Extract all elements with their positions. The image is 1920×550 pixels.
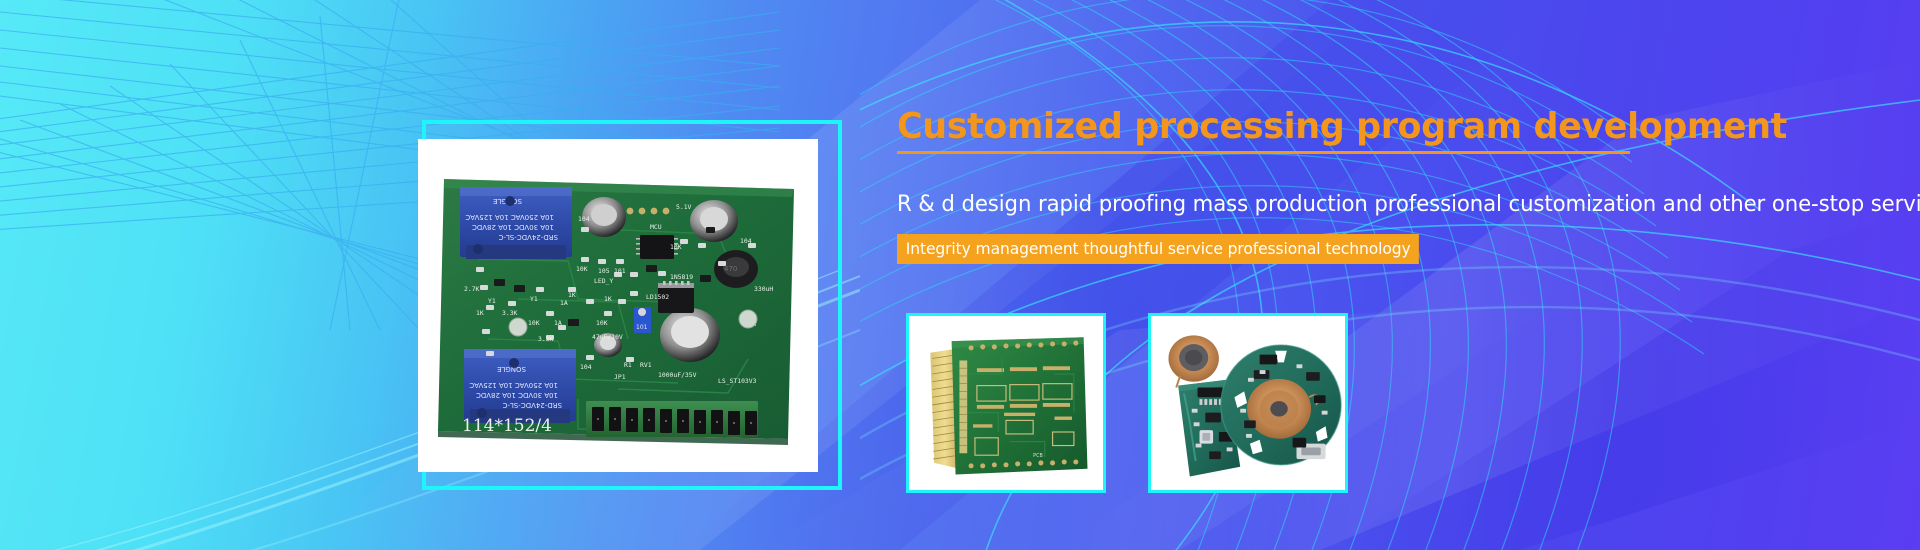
svg-text:10K: 10K: [670, 243, 682, 251]
svg-text:Y1: Y1: [530, 295, 538, 303]
svg-text:R1: R1: [624, 361, 632, 369]
svg-text:104: 104: [580, 363, 592, 371]
svg-text:1K: 1K: [568, 291, 576, 299]
svg-text:10A 250VAC 10A 125VAC: 10A 250VAC 10A 125VAC: [465, 213, 554, 221]
svg-text:10K: 10K: [596, 319, 608, 327]
svg-text:LED_Y: LED_Y: [594, 277, 613, 285]
banner-copy: Customized processing program developmen…: [897, 108, 1920, 264]
svg-text:1A: 1A: [554, 319, 562, 327]
svg-text:47uF/10V: 47uF/10V: [592, 333, 623, 341]
svg-text:105: 105: [598, 267, 610, 275]
title-underline: [897, 151, 1630, 154]
svg-text:104: 104: [740, 237, 752, 245]
page-title: Customized processing program developmen…: [897, 108, 1920, 147]
svg-text:470: 470: [724, 265, 737, 273]
svg-text:Y1: Y1: [488, 297, 496, 305]
svg-text:MCU: MCU: [650, 223, 662, 231]
svg-text:10A 250VAC 10A 125VAC: 10A 250VAC 10A 125VAC: [469, 381, 558, 389]
svg-text:1K: 1K: [604, 295, 612, 303]
status-badge: Integrity management thoughtful service …: [897, 234, 1419, 264]
svg-text:SRD-24VDC-SL-C: SRD-24VDC-SL-C: [499, 233, 558, 241]
svg-text:PCB: PCB: [1033, 453, 1043, 459]
svg-text:3.3K: 3.3K: [502, 309, 518, 317]
svg-text:101: 101: [636, 324, 648, 331]
svg-text:10A 30VDC 10A 28VDC: 10A 30VDC 10A 28VDC: [476, 391, 558, 399]
svg-text:114*152/4: 114*152/4: [462, 416, 552, 436]
svg-text:104: 104: [578, 215, 590, 223]
svg-text:1A: 1A: [560, 299, 568, 307]
thumbnail-bare-pcb[interactable]: PCB: [906, 313, 1106, 493]
promo-banner: SRD-24VDC-SL-C 10A 30VDC 10A 28VDC 10A 2…: [0, 0, 1920, 550]
thumbnail-wireless-charger-pcb[interactable]: [1148, 313, 1348, 493]
banner-subtitle: R & d design rapid proofing mass product…: [897, 192, 1920, 217]
svg-text:RV1: RV1: [640, 361, 652, 369]
svg-text:10K: 10K: [528, 319, 540, 327]
svg-text:LS_ST103V3: LS_ST103V3: [718, 377, 757, 385]
svg-text:JP1: JP1: [614, 373, 626, 381]
svg-text:5.1V: 5.1V: [676, 203, 692, 211]
svg-text:3.3K: 3.3K: [538, 335, 554, 343]
svg-text:101: 101: [614, 267, 626, 275]
hero-image-pcb[interactable]: SRD-24VDC-SL-C 10A 30VDC 10A 28VDC 10A 2…: [418, 139, 818, 472]
svg-text:1K: 1K: [476, 309, 484, 317]
svg-text:330uH: 330uH: [754, 285, 773, 293]
svg-text:2.7K: 2.7K: [464, 285, 480, 293]
svg-text:LD1502: LD1502: [646, 293, 669, 301]
svg-text:1000uF/35V: 1000uF/35V: [658, 371, 697, 379]
svg-text:10K: 10K: [576, 265, 588, 273]
svg-text:SRD-24VDC-SL-C: SRD-24VDC-SL-C: [503, 401, 562, 409]
svg-text:10A 30VDC 10A 28VDC: 10A 30VDC 10A 28VDC: [472, 223, 554, 231]
svg-text:1N5819: 1N5819: [670, 273, 693, 281]
